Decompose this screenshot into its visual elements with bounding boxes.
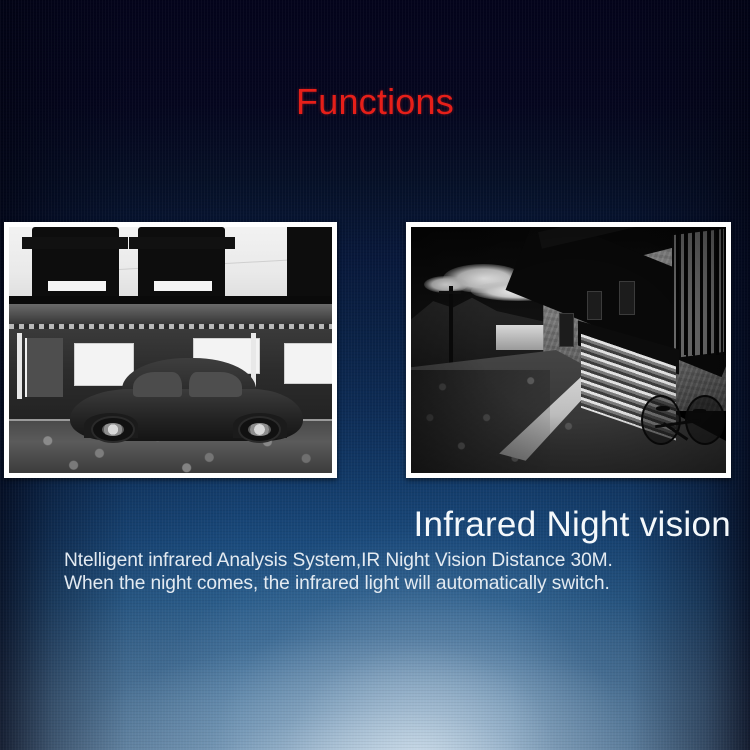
photo-street-scene: [411, 227, 726, 473]
photo-car-scene: [9, 227, 332, 473]
feature-description-line-2: When the night comes, the infrared light…: [64, 572, 731, 595]
car-window-front: [133, 372, 182, 397]
balcony-opening-middle: [154, 281, 212, 291]
parked-car: [70, 360, 303, 444]
feature-headline: Infrared Night vision: [413, 505, 731, 545]
car-window-rear: [189, 372, 242, 397]
pilaster-left: [17, 333, 22, 399]
balcony-right: [287, 227, 332, 296]
promo-banner: Functions: [0, 0, 750, 750]
feature-description: Ntelligent infrared Analysis System,IR N…: [64, 549, 731, 595]
balcony-opening-left: [48, 281, 106, 291]
photo-vignette: [411, 227, 726, 473]
night-vision-photo-street: [406, 222, 731, 478]
feature-description-line-1: Ntelligent infrared Analysis System,IR N…: [64, 549, 731, 572]
page-title: Functions: [0, 81, 750, 123]
balcony-cornice-left: [22, 237, 129, 249]
doorway: [25, 338, 63, 397]
balcony-cornice-middle: [129, 237, 236, 249]
night-vision-photo-car: [4, 222, 337, 478]
